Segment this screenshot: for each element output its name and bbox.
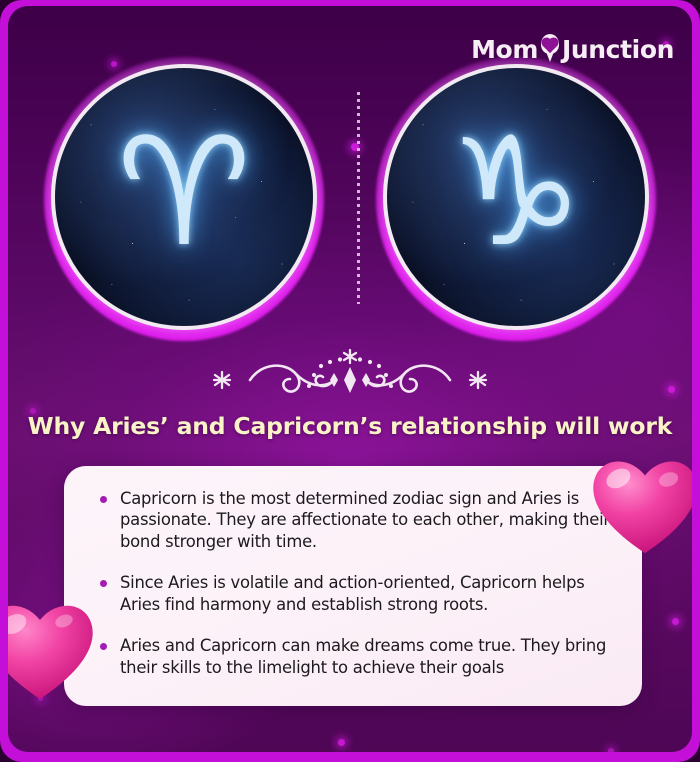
aries-circle-ring: ♈	[51, 64, 317, 330]
background-glow-dot	[38, 696, 43, 701]
relationship-points-card: Capricorn is the most determined zodiac …	[64, 466, 642, 706]
infographic-poster: Mom Junction ♈ ♑	[0, 0, 700, 762]
momjunction-logo[interactable]: Mom Junction	[471, 32, 674, 66]
zodiac-circle-capricorn: ♑	[383, 64, 649, 330]
background-glow-dot	[608, 748, 614, 752]
list-item: Capricorn is the most determined zodiac …	[94, 488, 612, 552]
list-item: Aries and Capricorn can make dreams come…	[94, 635, 612, 678]
list-item: Since Aries is volatile and action-orien…	[94, 572, 612, 615]
vertical-dotted-divider-icon	[357, 92, 360, 304]
background-glow-dot	[672, 618, 679, 625]
logo-text-mom: Mom	[471, 35, 538, 64]
zodiac-signs-row: ♈ ♑	[8, 58, 692, 338]
poster-background: Mom Junction ♈ ♑	[8, 6, 692, 752]
zodiac-circle-aries: ♈	[51, 64, 317, 330]
background-glow-dot	[338, 739, 345, 746]
logo-text-junction: Junction	[562, 35, 674, 64]
points-list: Capricorn is the most determined zodiac …	[94, 488, 612, 678]
ornamental-flourish-divider-icon	[8, 346, 692, 402]
aries-zodiac-symbol-icon: ♈	[55, 68, 313, 326]
momjunction-baby-heart-logo-icon	[539, 34, 561, 64]
capricorn-zodiac-symbol-icon: ♑	[387, 68, 645, 326]
capricorn-circle-ring: ♑	[383, 64, 649, 330]
page-title: Why Aries’ and Capricorn’s relationship …	[8, 412, 692, 440]
